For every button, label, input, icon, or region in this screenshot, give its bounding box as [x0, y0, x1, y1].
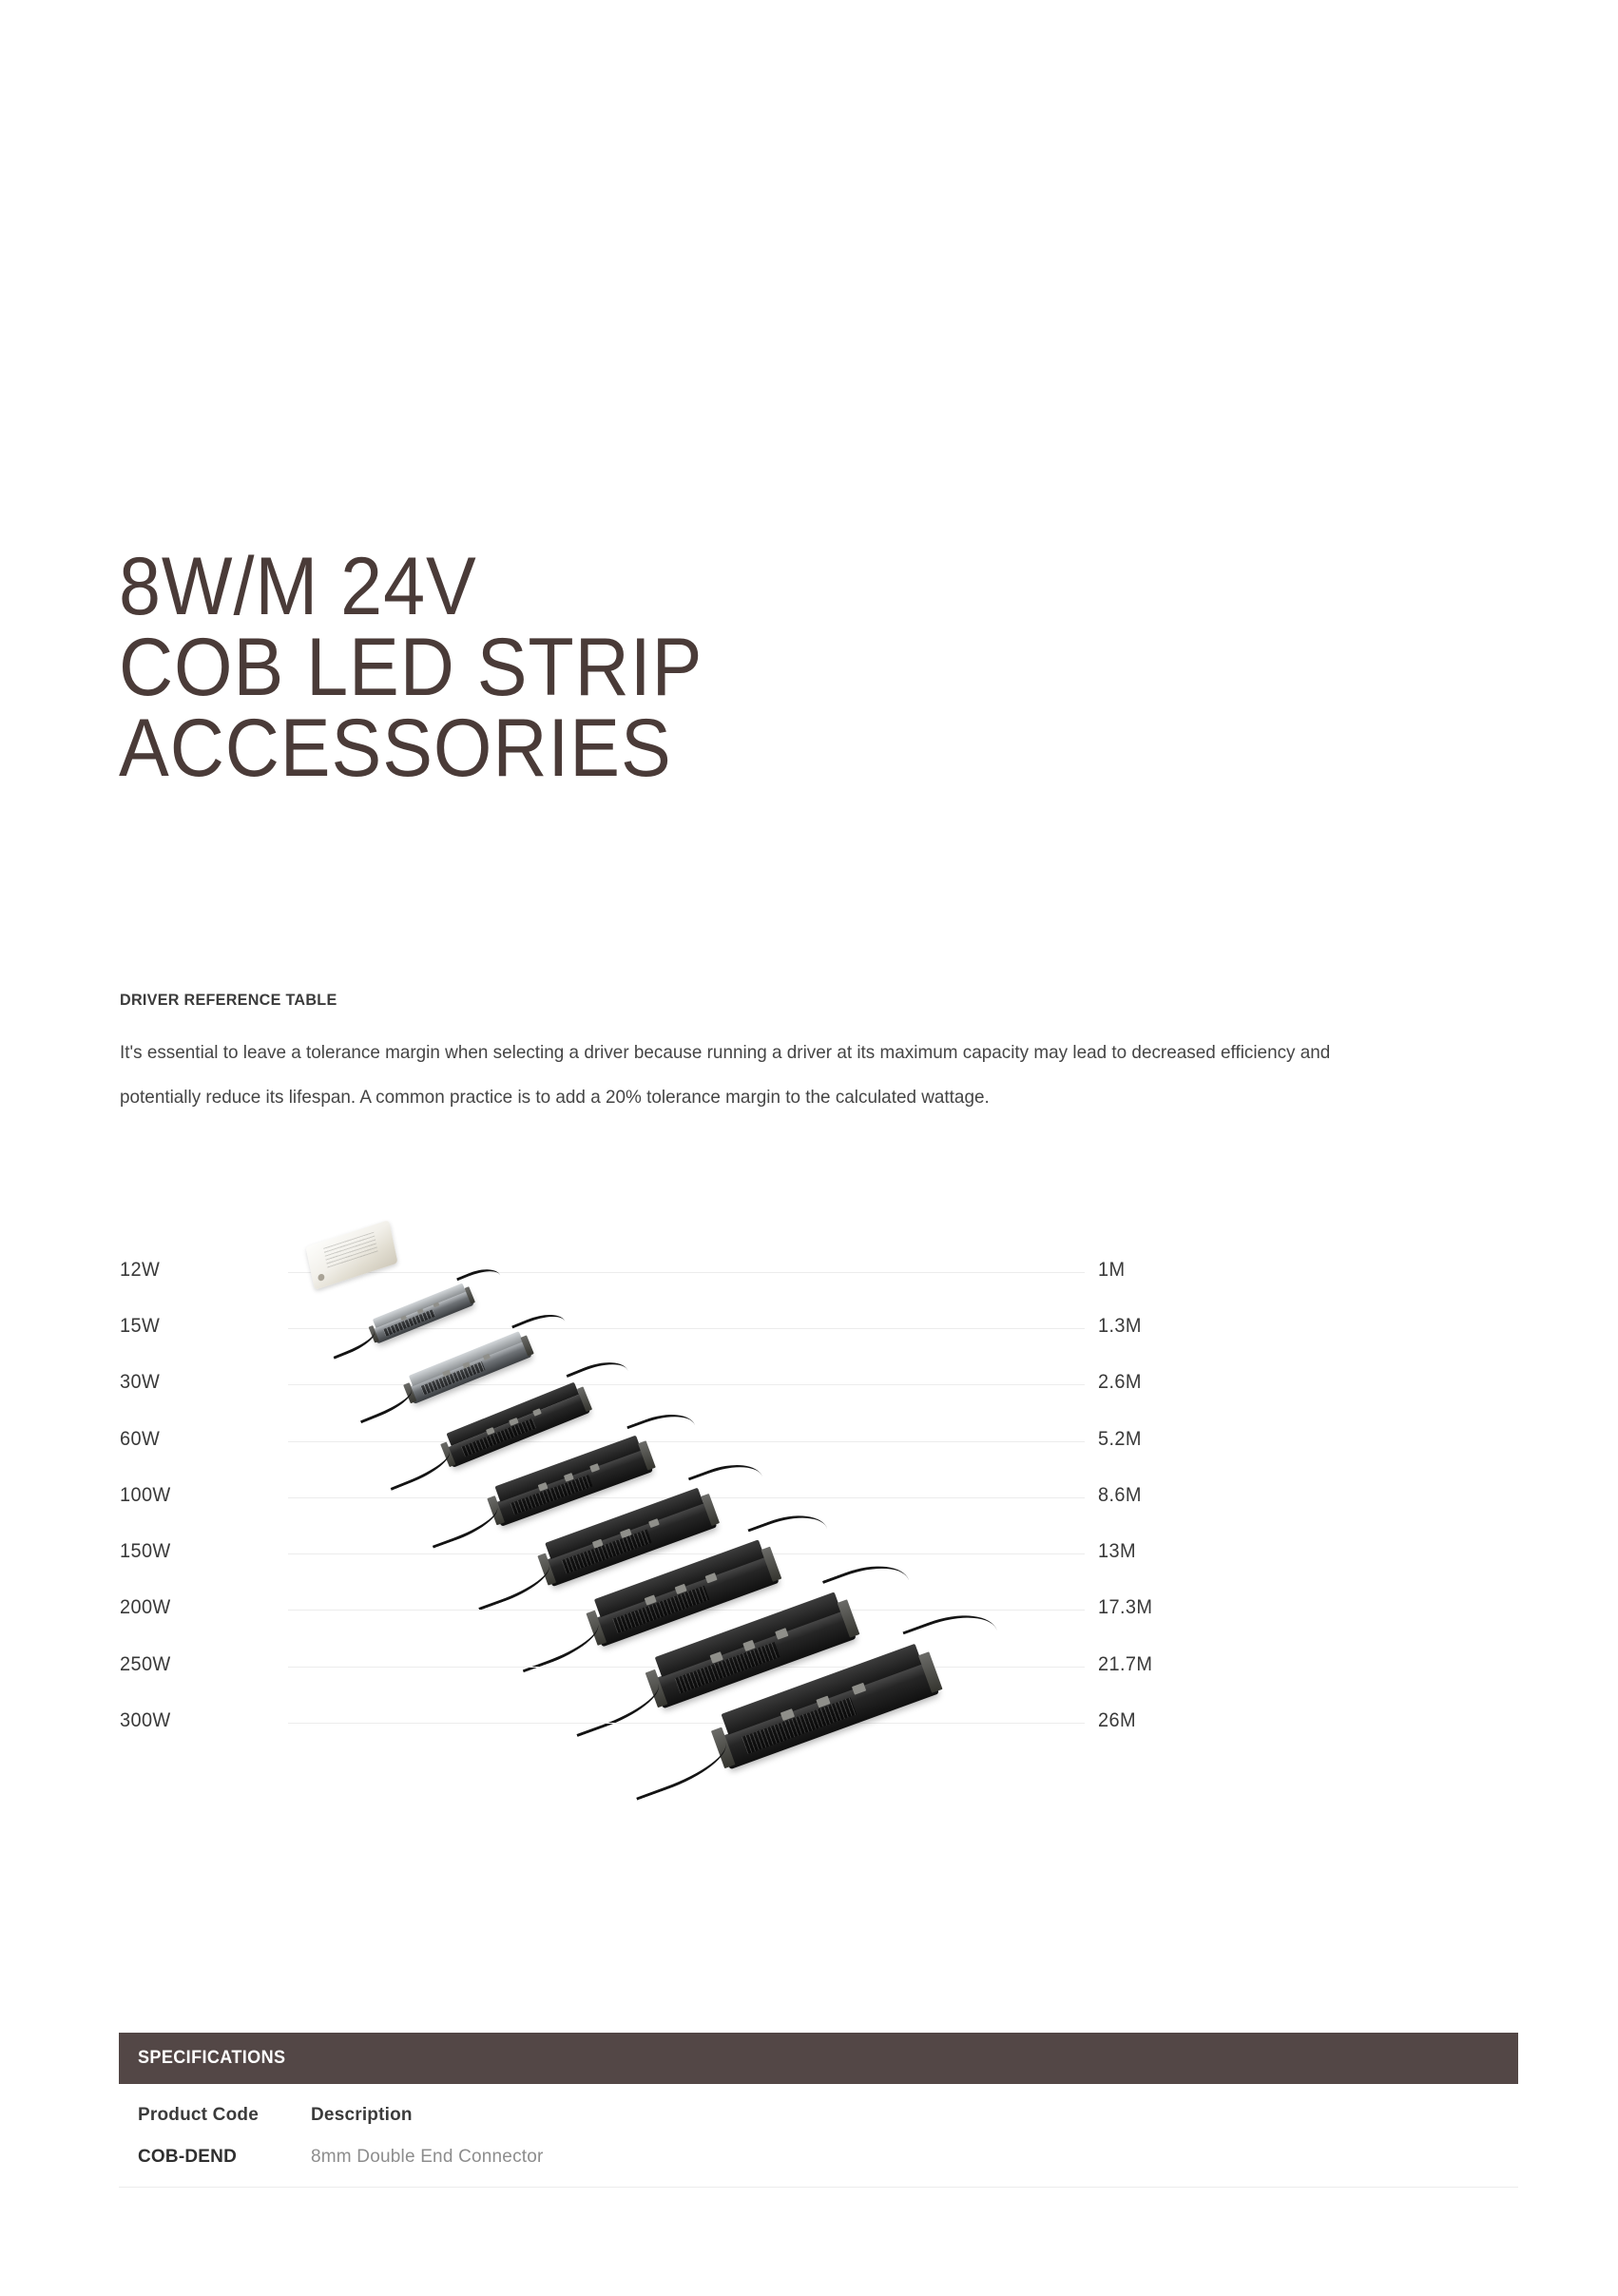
specifications-section: SPECIFICATIONS Product Code Description …: [119, 2033, 1518, 2188]
driver-output-cable: [902, 1601, 1001, 1673]
driver-input-cable: [513, 1615, 605, 1672]
table-header-row: Product Code Description: [119, 2084, 1518, 2139]
wattage-label: 250W: [120, 1653, 171, 1676]
wattage-label: 30W: [120, 1371, 160, 1394]
driver-image-200w: [588, 1569, 777, 1616]
driver-input-cable: [355, 1385, 415, 1423]
intro-section: DRIVER REFERENCE TABLE It's essential to…: [120, 991, 1375, 1120]
page-title: 8W/M 24V COB LED STRIP ACCESSORIES: [119, 547, 1355, 789]
driver-image-250w: [648, 1624, 854, 1675]
driver-housing: [403, 1330, 531, 1404]
wattage-label: 150W: [120, 1540, 171, 1563]
intro-paragraph: It's essential to leave a tolerance marg…: [120, 1031, 1337, 1120]
driver-output-cable: [688, 1454, 766, 1511]
table-bottom-divider: [119, 2187, 1518, 2188]
specifications-header-bar: SPECIFICATIONS: [119, 2033, 1518, 2084]
wattage-label: 100W: [120, 1484, 171, 1507]
driver-image-300w: [714, 1678, 936, 1733]
driver-output-cable: [456, 1263, 503, 1297]
column-header-product-code: Product Code: [119, 2084, 292, 2139]
row-rule: [288, 1272, 1085, 1273]
specifications-title: SPECIFICATIONS: [138, 2048, 285, 2069]
driver-image-30w: [404, 1353, 531, 1381]
page-title-line-1: 8W/M 24V: [119, 547, 1256, 627]
page-title-line-3: ACCESSORIES: [119, 708, 1256, 789]
length-label: 8.6M: [1098, 1484, 1142, 1507]
driver-input-cable: [425, 1500, 503, 1549]
driver-output-cable: [748, 1503, 832, 1565]
driver-image-15w: [369, 1301, 473, 1325]
page-title-line-2: COB LED STRIP: [119, 627, 1256, 708]
driver-input-cable: [384, 1445, 455, 1491]
driver-output-cable: [626, 1404, 698, 1457]
driver-output-cable: [511, 1306, 568, 1346]
wattage-label: 15W: [120, 1315, 160, 1338]
driver-image-150w: [540, 1515, 715, 1558]
driver-housing: [368, 1282, 474, 1343]
driver-image-12w: [308, 1233, 395, 1277]
document-page: 8W/M 24V COB LED STRIP ACCESSORIES DRIVE…: [0, 0, 1618, 2296]
cell-description: 8mm Double End Connector: [292, 2139, 1518, 2187]
row-rule: [288, 1441, 1085, 1442]
driver-image-100w: [490, 1460, 651, 1500]
cell-product-code: COB-DEND: [119, 2139, 292, 2187]
driver-input-cable: [567, 1674, 666, 1736]
driver-output-cable: [566, 1353, 631, 1400]
driver-housing: [440, 1380, 590, 1468]
length-label: 1.3M: [1098, 1315, 1142, 1338]
specifications-table: Product Code Description COB-DEND 8mm Do…: [119, 2084, 1518, 2187]
intro-heading: DRIVER REFERENCE TABLE: [120, 991, 1312, 1010]
driver-image-60w: [441, 1407, 589, 1441]
wattage-label: 200W: [120, 1596, 171, 1619]
wattage-label: 12W: [120, 1259, 160, 1282]
wattage-label: 300W: [120, 1709, 171, 1732]
driver-reference-chart: 12W1M15W1.3M30W2.6M60W5.2M100W8.6M150W13…: [0, 1232, 1618, 1983]
driver-input-cable: [626, 1733, 733, 1801]
length-label: 21.7M: [1098, 1653, 1152, 1676]
length-label: 13M: [1098, 1540, 1136, 1563]
length-label: 1M: [1098, 1259, 1125, 1282]
driver-input-cable: [471, 1557, 555, 1611]
length-label: 2.6M: [1098, 1371, 1142, 1394]
row-rule: [288, 1723, 1085, 1724]
length-label: 17.3M: [1098, 1596, 1152, 1619]
driver-input-cable: [328, 1327, 378, 1360]
column-header-description: Description: [292, 2084, 1518, 2139]
length-label: 26M: [1098, 1709, 1136, 1732]
wattage-label: 60W: [120, 1428, 160, 1451]
table-row: COB-DEND 8mm Double End Connector: [119, 2139, 1518, 2187]
driver-housing: [305, 1220, 397, 1290]
length-label: 5.2M: [1098, 1428, 1142, 1451]
